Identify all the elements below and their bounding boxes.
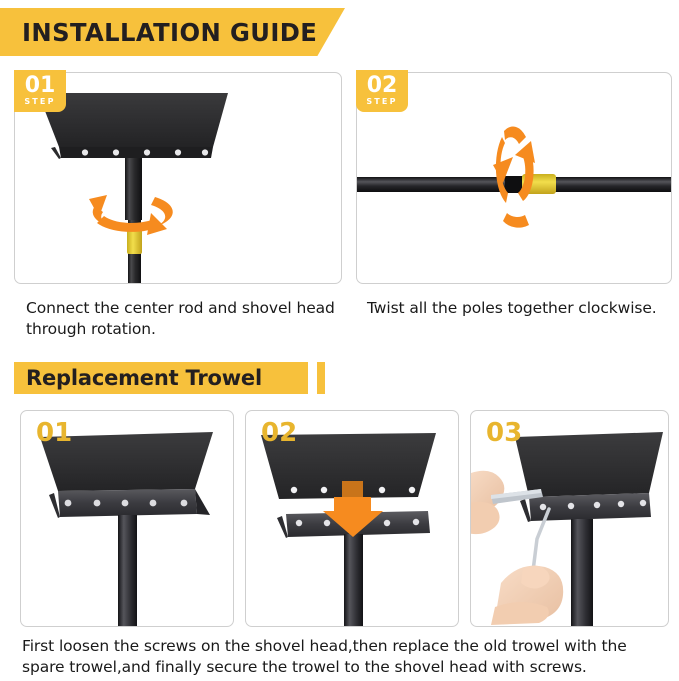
install-step-2-badge: 02 STEP	[356, 70, 408, 112]
instruction-sheet: INSTALLATION GUIDE	[0, 0, 679, 681]
step-word: STEP	[356, 98, 408, 106]
trowel-step-3-number: 03	[486, 418, 522, 448]
trowel-step-2-number: 02	[261, 418, 297, 448]
install-step-2-caption: Twist all the poles together clockwise.	[367, 298, 677, 319]
page-title: INSTALLATION GUIDE	[22, 18, 317, 47]
install-step-1-badge: 01 STEP	[14, 70, 66, 112]
install-step-1-caption: Connect the center rod and shovel head t…	[26, 298, 346, 340]
step-word: STEP	[14, 98, 66, 106]
section-title: Replacement Trowel	[26, 366, 262, 390]
step-number: 02	[356, 70, 408, 97]
replacement-trowel-caption: First loosen the screws on the shovel he…	[22, 636, 672, 678]
replacement-trowel-header: Replacement Trowel	[14, 362, 308, 394]
installation-guide-banner: INSTALLATION GUIDE	[0, 8, 345, 56]
step-number: 01	[14, 70, 66, 97]
trowel-step-1-number: 01	[36, 418, 72, 448]
header-accent-tick	[317, 362, 325, 394]
